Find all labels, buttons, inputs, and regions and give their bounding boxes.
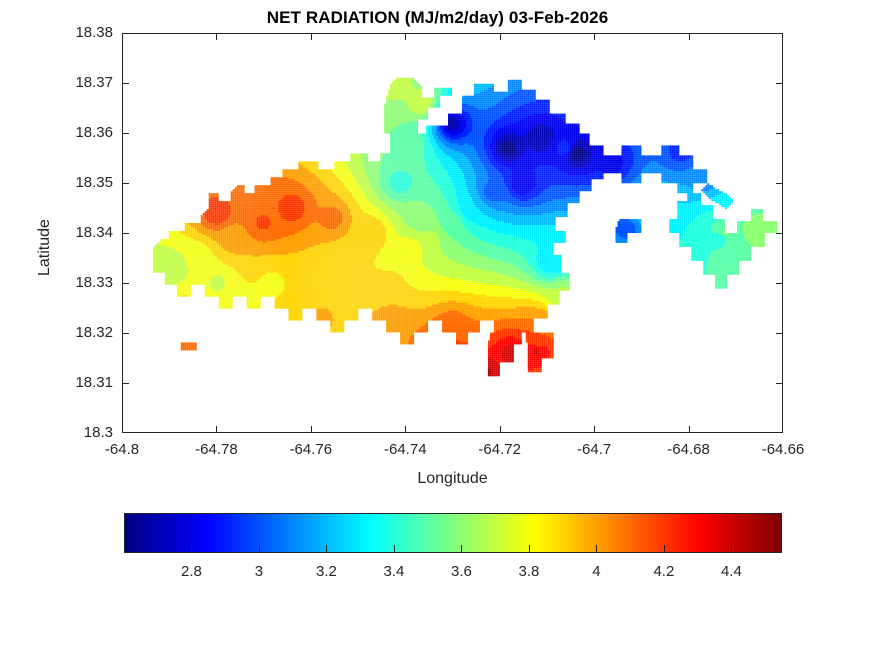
y-axis-tick-label: 18.34 [0, 224, 113, 241]
x-axis-tick [594, 426, 595, 433]
y-axis-tick [122, 183, 129, 184]
x-axis-tick [500, 426, 501, 433]
x-axis-tick-label: -64.7 [544, 441, 644, 458]
colorbar-tick [394, 545, 395, 552]
y-axis-tick [122, 283, 129, 284]
y-axis-tick [122, 233, 129, 234]
x-axis-tick [311, 33, 312, 40]
x-axis-tick-label: -64.74 [355, 441, 455, 458]
y-axis-tick-label: 18.3 [0, 424, 113, 441]
y-axis-tick-label: 18.37 [0, 74, 113, 91]
colorbar-tick [191, 545, 192, 552]
x-axis-tick-label: -64.78 [166, 441, 266, 458]
x-axis-tick [405, 33, 406, 40]
y-axis-tick-label: 18.38 [0, 24, 113, 41]
y-axis-tick [776, 283, 783, 284]
y-axis-tick [122, 333, 129, 334]
y-axis-tick-label: 18.32 [0, 324, 113, 341]
x-axis-tick [216, 33, 217, 40]
y-axis-tick [776, 233, 783, 234]
y-axis-tick-label: 18.33 [0, 274, 113, 291]
x-axis-tick [689, 426, 690, 433]
colorbar-tick-label: 4.4 [691, 563, 771, 580]
y-axis-tick [122, 383, 129, 384]
y-axis-tick [776, 183, 783, 184]
y-axis-tick [776, 133, 783, 134]
x-axis-tick-label: -64.68 [639, 441, 739, 458]
y-axis-tick [776, 83, 783, 84]
x-axis-label: Longitude [122, 470, 783, 488]
y-axis-tick [776, 333, 783, 334]
colorbar-tick [596, 545, 597, 552]
y-axis-tick [776, 383, 783, 384]
colorbar-tick [664, 545, 665, 552]
x-axis-tick [216, 426, 217, 433]
colorbar [124, 513, 782, 553]
y-axis-tick-label: 18.36 [0, 124, 113, 141]
x-axis-tick [311, 426, 312, 433]
page-title: NET RADIATION (MJ/m2/day) 03-Feb-2026 [0, 8, 875, 28]
colorbar-tick [529, 545, 530, 552]
map-axes [122, 33, 783, 433]
colorbar-tick [461, 545, 462, 552]
x-axis-tick-label: -64.76 [261, 441, 361, 458]
x-axis-tick [689, 33, 690, 40]
x-axis-tick [405, 426, 406, 433]
y-axis-tick [122, 133, 129, 134]
y-axis-tick-label: 18.35 [0, 174, 113, 191]
colorbar-tick [259, 545, 260, 552]
net-radiation-heatmap [123, 34, 782, 432]
colorbar-tick [731, 545, 732, 552]
x-axis-tick [500, 33, 501, 40]
x-axis-tick-label: -64.72 [450, 441, 550, 458]
colorbar-gradient [125, 514, 781, 552]
colorbar-tick [326, 545, 327, 552]
y-axis-tick-label: 18.31 [0, 374, 113, 391]
x-axis-tick-label: -64.66 [733, 441, 833, 458]
figure-canvas: NET RADIATION (MJ/m2/day) 03-Feb-2026 La… [0, 0, 875, 656]
x-axis-tick [594, 33, 595, 40]
y-axis-tick [122, 83, 129, 84]
x-axis-tick-label: -64.8 [72, 441, 172, 458]
